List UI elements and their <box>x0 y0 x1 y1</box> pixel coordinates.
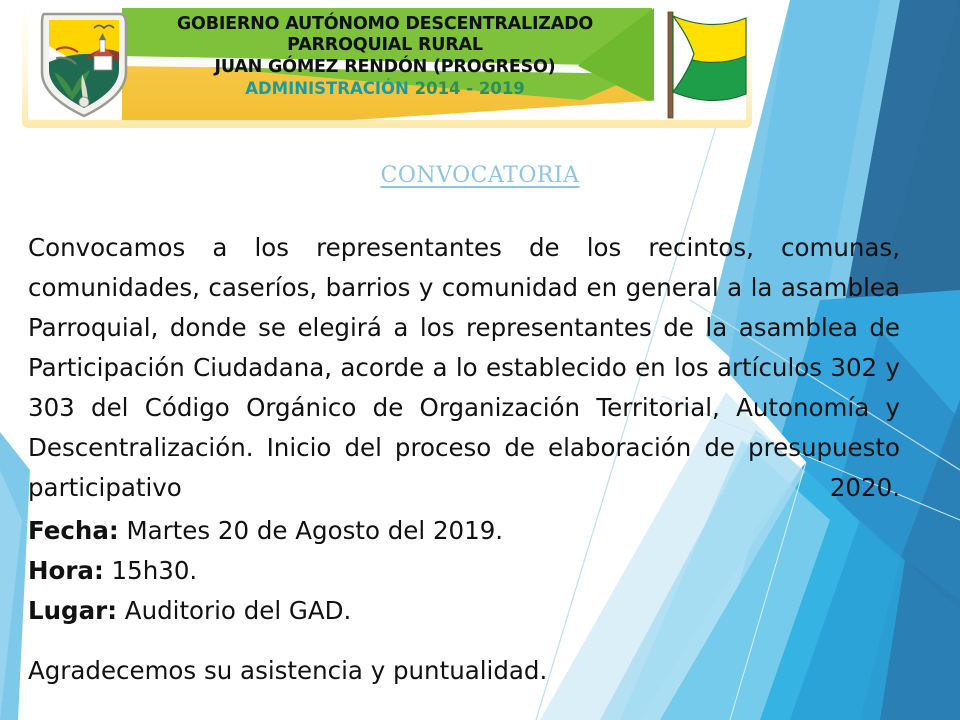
detail-value-fecha: Martes 20 de Agosto del 2019. <box>119 516 503 545</box>
event-details: Fecha: Martes 20 de Agosto del 2019. Hor… <box>28 511 728 631</box>
detail-value-lugar: Auditorio del GAD. <box>117 596 351 625</box>
convocatoria-paragraph: Convocamos a los representantes de los r… <box>28 228 900 548</box>
slide-content: CONVOCATORIA Convocamos a los representa… <box>0 0 960 720</box>
closing-line: Agradecemos su asistencia y puntualidad. <box>28 651 788 691</box>
detail-row-hora: Hora: 15h30. <box>28 551 728 591</box>
detail-label-fecha: Fecha: <box>28 516 119 545</box>
detail-value-hora: 15h30. <box>104 556 197 585</box>
page-title: CONVOCATORIA <box>0 163 960 188</box>
detail-row-fecha: Fecha: Martes 20 de Agosto del 2019. <box>28 511 728 551</box>
detail-row-lugar: Lugar: Auditorio del GAD. <box>28 591 728 631</box>
convocatoria-slide: GOBIERNO AUTÓNOMO DESCENTRALIZADO PARROQ… <box>0 0 960 720</box>
detail-label-lugar: Lugar: <box>28 596 117 625</box>
detail-label-hora: Hora: <box>28 556 104 585</box>
